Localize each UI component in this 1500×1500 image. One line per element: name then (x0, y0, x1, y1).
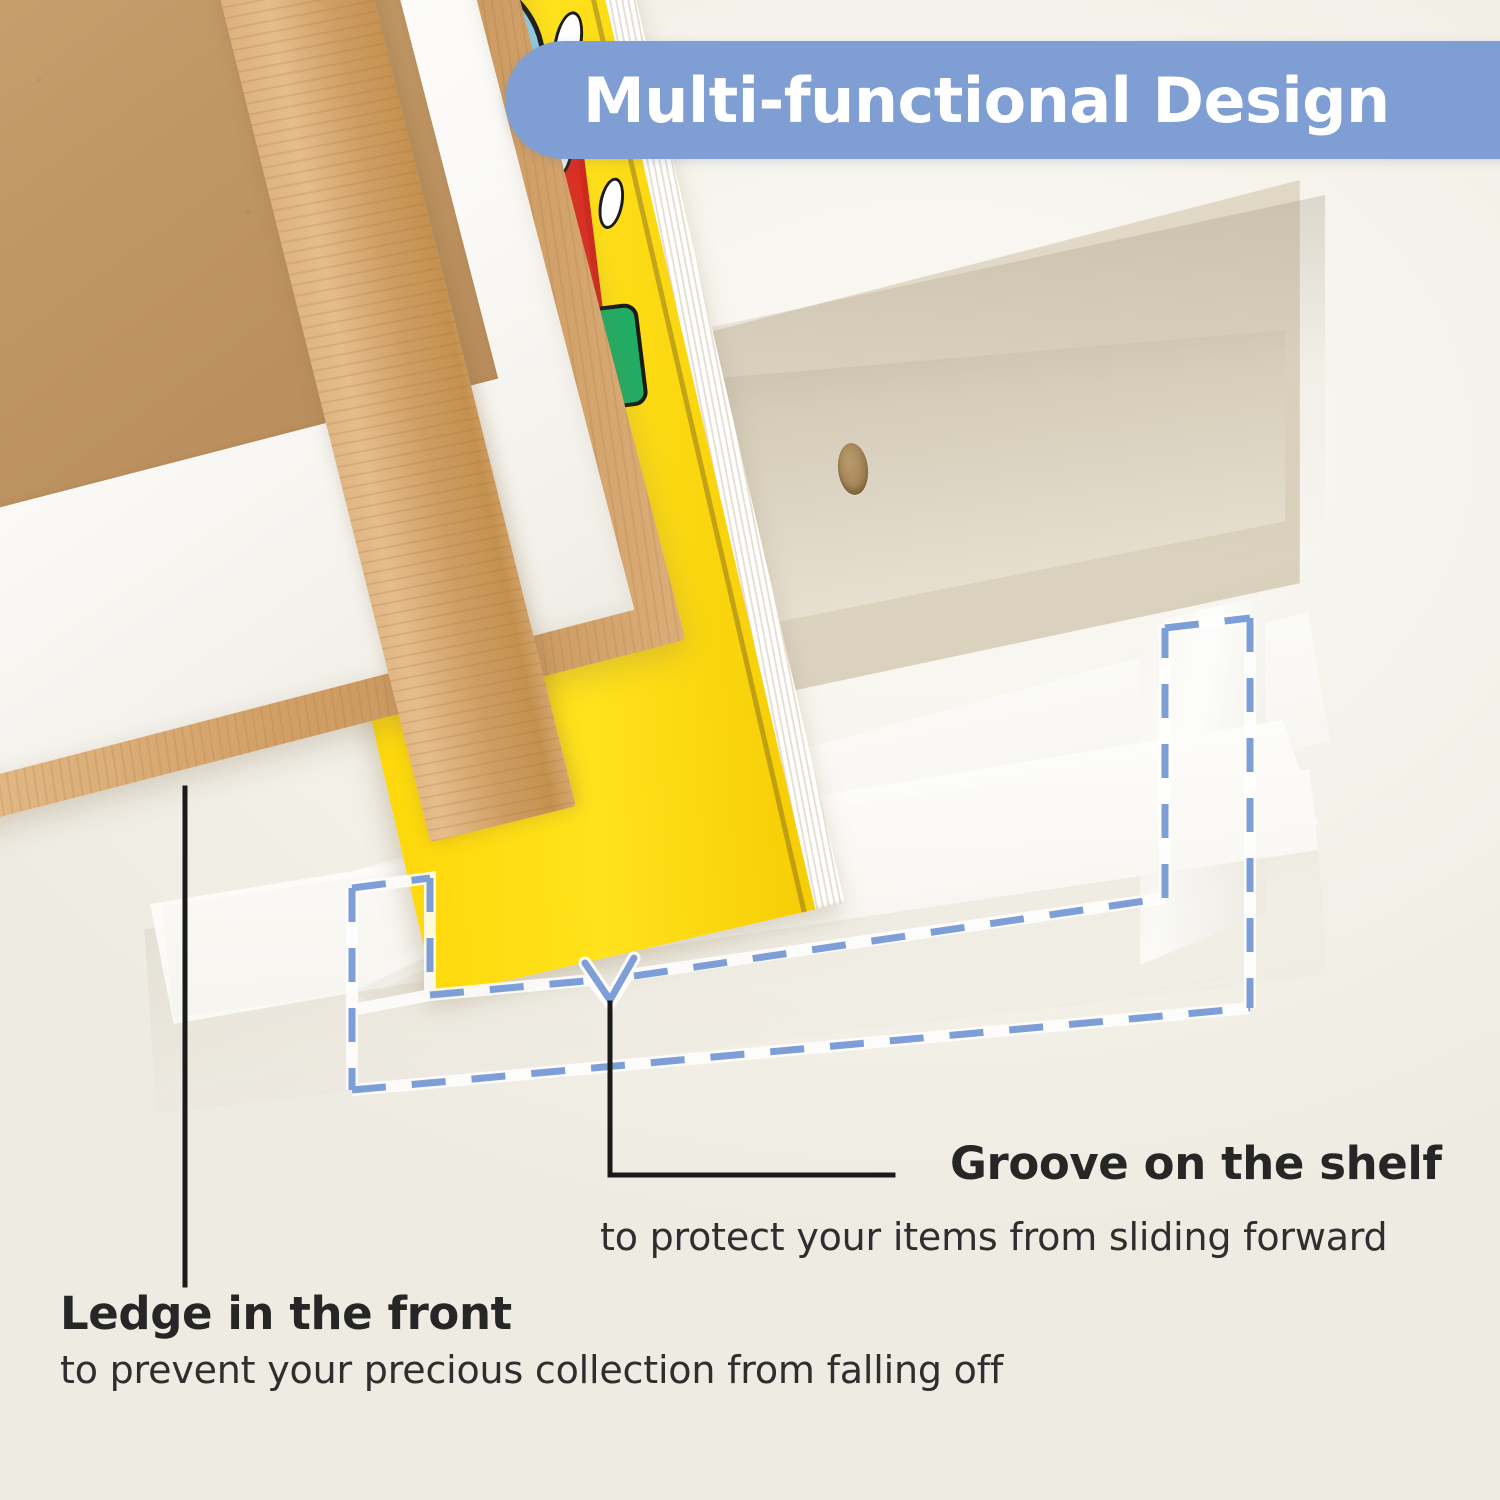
callout-groove-title: Groove on the shelf (950, 1140, 1442, 1187)
callout-groove-subtitle: to protect your items from sliding forwa… (600, 1216, 1387, 1259)
callout-ledge: Ledge in the front to prevent your preci… (60, 1290, 1003, 1392)
callout-ledge-subtitle: to prevent your precious collection from… (60, 1349, 1003, 1392)
product-photo: illustrated by Annie Kubler (0, 0, 1500, 1500)
feature-banner: Multi-functional Design (505, 41, 1500, 159)
feature-banner-text: Multi-functional Design (583, 64, 1390, 137)
product-feature-image: illustrated by Annie Kubler (0, 0, 1500, 1500)
callout-groove: Groove on the shelf to protect your item… (950, 1140, 1442, 1187)
callout-ledge-title: Ledge in the front (60, 1290, 1003, 1337)
